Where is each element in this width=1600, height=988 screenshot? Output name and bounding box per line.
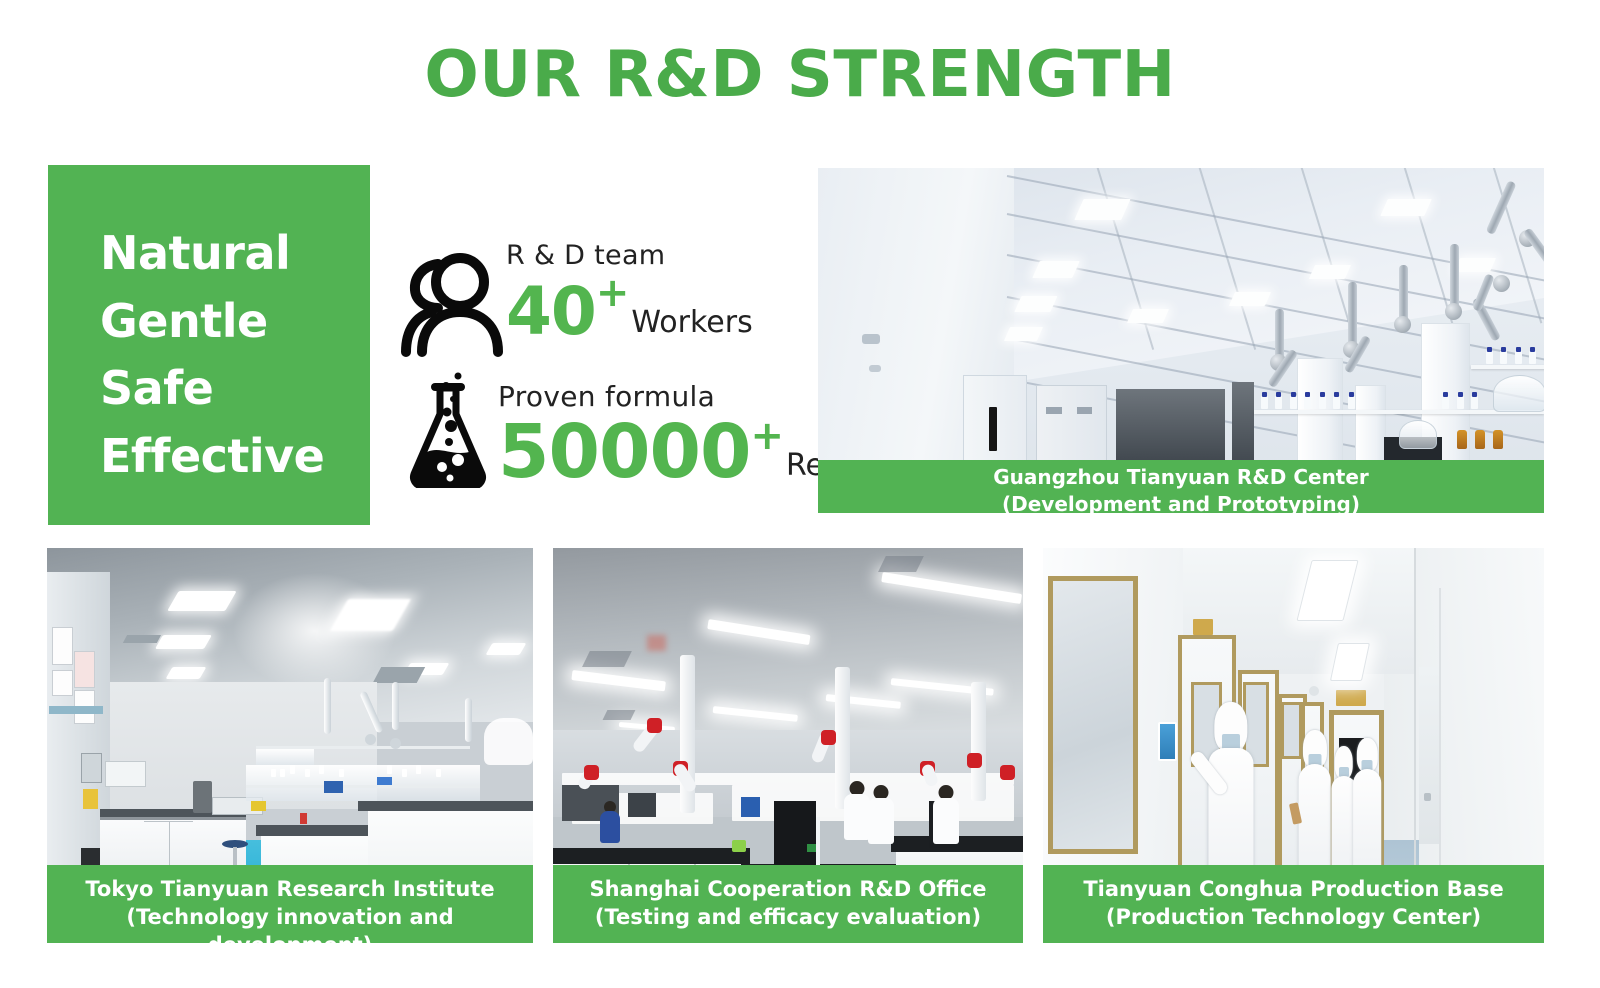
people-icon bbox=[398, 248, 508, 358]
slogan-line-1: Natural bbox=[100, 220, 370, 288]
caption-tokyo-subtitle: (Technology innovation and development) bbox=[47, 904, 533, 943]
stats-group: R & D team 40+Workers P bbox=[398, 240, 798, 510]
stat-rd-team-number: 40 bbox=[506, 273, 596, 350]
card-conghua[interactable]: Tianyuan Conghua Production Base (Produc… bbox=[1043, 548, 1544, 943]
stat-rd-team-unit: Workers bbox=[631, 305, 752, 340]
page-title: OUR R&D STRENGTH bbox=[0, 38, 1600, 112]
card-tokyo[interactable]: Tokyo Tianyuan Research Institute (Techn… bbox=[47, 548, 533, 943]
stat-proven-formula: Proven formula 50000+Recipes bbox=[398, 368, 798, 496]
caption-conghua-subtitle: (Production Technology Center) bbox=[1043, 904, 1544, 932]
stat-rd-team-value-row: 40+Workers bbox=[506, 273, 753, 345]
caption-rd-center: Guangzhou Tianyuan R&D Center (Developme… bbox=[818, 460, 1544, 513]
caption-shanghai-title: Shanghai Cooperation R&D Office bbox=[553, 876, 1023, 904]
slogan-line-2: Gentle bbox=[100, 288, 370, 356]
stat-proven-formula-plus: + bbox=[750, 413, 784, 459]
caption-conghua-title: Tianyuan Conghua Production Base bbox=[1043, 876, 1544, 904]
card-rd-center[interactable]: Guangzhou Tianyuan R&D Center (Developme… bbox=[818, 168, 1544, 513]
flask-icon bbox=[402, 370, 494, 488]
slogan-box: Natural Gentle Safe Effective bbox=[48, 165, 370, 525]
caption-rd-center-subtitle: (Development and Prototyping) bbox=[818, 491, 1544, 513]
caption-rd-center-title: Guangzhou Tianyuan R&D Center bbox=[818, 464, 1544, 491]
stat-rd-team-text: R & D team 40+Workers bbox=[506, 240, 753, 345]
caption-shanghai-subtitle: (Testing and efficacy evaluation) bbox=[553, 904, 1023, 932]
stat-proven-formula-number: 50000 bbox=[498, 409, 750, 495]
card-shanghai[interactable]: Shanghai Cooperation R&D Office (Testing… bbox=[553, 548, 1023, 943]
caption-tokyo: Tokyo Tianyuan Research Institute (Techn… bbox=[47, 865, 533, 943]
caption-tokyo-title: Tokyo Tianyuan Research Institute bbox=[47, 876, 533, 904]
stat-rd-team: R & D team 40+Workers bbox=[398, 240, 798, 368]
slogan-line-3: Safe bbox=[100, 355, 370, 423]
slogan-line-4: Effective bbox=[100, 423, 370, 491]
caption-conghua: Tianyuan Conghua Production Base (Produc… bbox=[1043, 865, 1544, 943]
stat-rd-team-label: R & D team bbox=[506, 240, 753, 271]
stat-rd-team-plus: + bbox=[596, 270, 630, 316]
caption-shanghai: Shanghai Cooperation R&D Office (Testing… bbox=[553, 865, 1023, 943]
